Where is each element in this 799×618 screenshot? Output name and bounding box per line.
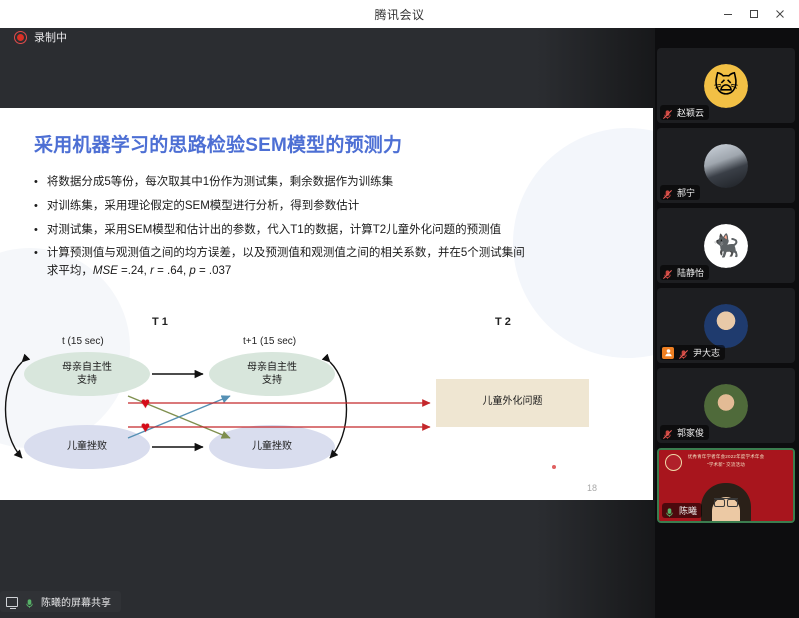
- diagram-sublabel-mid: t+1 (15 sec): [243, 336, 296, 347]
- participant-tile-4[interactable]: 郭家俊: [657, 368, 795, 443]
- bullet-text-line1: 计算预测值与观测值之间的均方误差，以及预测值和观测值之间的相关系数，并在5个测试…: [47, 247, 525, 259]
- participant-name: 郭家俊: [677, 426, 704, 439]
- participant-tile-3[interactable]: 尹大志: [657, 288, 795, 363]
- photo-avatar-icon: [704, 384, 748, 428]
- mic-muted-icon: [662, 267, 673, 278]
- recording-badge[interactable]: 录制中: [10, 26, 75, 48]
- participant-name: 陈曦: [679, 504, 697, 517]
- participant-tile-5[interactable]: 优秀青年学者年会2022年度学术年会 "学术新" 交流活动 陈曦: [657, 448, 795, 523]
- host-badge-icon: [662, 347, 674, 359]
- title-bar: 腾讯会议: [0, 0, 799, 28]
- list-item: • 将数据分成5等份，每次取其中1份作为测试集，剩余数据作为训练集: [34, 174, 624, 192]
- participant-name: 赵颖云: [677, 106, 704, 119]
- nameplate: 郭家俊: [660, 425, 709, 440]
- heart-marker-icon: ♥: [141, 396, 150, 411]
- stat-mse-value: =.24,: [118, 265, 147, 277]
- slide-title: 采用机器学习的思路检验SEM模型的预测力: [34, 130, 402, 157]
- bullet-text: 对训练集，采用理论假定的SEM模型进行分析，得到参数估计: [47, 198, 624, 216]
- bullet-text-line2: 求平均，MSE =.24, r = .64, p = .037: [47, 263, 624, 281]
- bullet-text: 计算预测值与观测值之间的均方误差，以及预测值和观测值之间的相关系数，并在5个测试…: [47, 245, 624, 281]
- stat-mse-label: MSE: [93, 265, 118, 277]
- bullet-dot-icon: •: [34, 222, 38, 239]
- avatar: 🐈‍⬛: [704, 224, 748, 268]
- avatar: [704, 304, 748, 348]
- nameplate: 郝宁: [660, 185, 700, 200]
- window-controls: [715, 0, 793, 28]
- bullet-dot-icon: •: [34, 245, 38, 262]
- mic-on-icon: [24, 596, 35, 607]
- close-icon[interactable]: [767, 0, 793, 28]
- app-title: 腾讯会议: [374, 6, 424, 23]
- screen-share-indicator: 陈曦的屏幕共享: [0, 591, 121, 612]
- participant-tile-0[interactable]: 🙀 赵颖云: [657, 48, 795, 123]
- stat-p-value: = .037: [196, 265, 232, 277]
- bullet-text: 对测试集，采用SEM模型和估计出的参数，代入T1的数据，计算T2儿童外化问题的预…: [47, 222, 624, 240]
- bullet-dot-icon: •: [34, 174, 38, 191]
- mic-muted-icon: [678, 347, 689, 358]
- glasses-icon: [714, 498, 738, 505]
- laser-pointer-dot: [552, 465, 556, 469]
- mic-on-icon: [664, 505, 675, 516]
- bullet-dot-icon: •: [34, 198, 38, 215]
- participant-name: 尹大志: [693, 346, 720, 359]
- node-child-frustration-t1: [209, 425, 335, 469]
- participant-name: 郝宁: [677, 186, 695, 199]
- video-banner-line1: 优秀青年学者年会2022年度学术年会: [659, 454, 793, 461]
- video-banner-line2: "学术新" 交流活动: [659, 462, 793, 469]
- participant-tile-1[interactable]: 郝宁: [657, 128, 795, 203]
- participant-rail: 🙀 赵颖云 郝宁 🐈‍⬛: [657, 48, 797, 528]
- mic-muted-icon: [662, 107, 673, 118]
- screen-share-icon: [6, 597, 18, 607]
- list-item: • 计算预测值与观测值之间的均方误差，以及预测值和观测值之间的相关系数，并在5个…: [34, 245, 624, 281]
- diagram-header-t1: T 1: [152, 316, 168, 328]
- avatar: [704, 384, 748, 428]
- heart-marker-icon: ♥: [141, 420, 150, 435]
- recording-dot-icon: [14, 31, 27, 44]
- sem-path-diagram: T 1 T 2 t (15 sec) t+1 (15 sec) 母亲自主性支持 …: [0, 322, 653, 500]
- mic-muted-icon: [662, 427, 673, 438]
- diagram-header-t2: T 2: [495, 316, 511, 328]
- avatar: [704, 144, 748, 188]
- photo-avatar-icon: 🐈‍⬛: [704, 224, 748, 268]
- list-item: • 对测试集，采用SEM模型和估计出的参数，代入T1的数据，计算T2儿童外化问题…: [34, 222, 624, 240]
- list-item: • 对训练集，采用理论假定的SEM模型进行分析，得到参数估计: [34, 198, 624, 216]
- node-child-externalizing: [436, 379, 589, 427]
- slide-page-number: 18: [587, 483, 597, 493]
- participant-tile-2[interactable]: 🐈‍⬛ 陆静怡: [657, 208, 795, 283]
- node-mother-support-t1: [209, 352, 335, 396]
- node-child-frustration-t: [24, 425, 150, 469]
- participant-name: 陆静怡: [677, 266, 704, 279]
- photo-avatar-icon: [704, 304, 748, 348]
- node-mother-support-t: [24, 352, 150, 396]
- photo-avatar-icon: [704, 144, 748, 188]
- nameplate: 尹大志: [660, 345, 725, 360]
- recording-label: 录制中: [34, 29, 67, 45]
- bullet-text: 将数据分成5等份，每次取其中1份作为测试集，剩余数据作为训练集: [47, 174, 624, 192]
- slide-bullet-list: • 将数据分成5等份，每次取其中1份作为测试集，剩余数据作为训练集 • 对训练集…: [34, 174, 624, 287]
- stat-r-value: = .64,: [154, 265, 186, 277]
- nameplate: 陈曦: [662, 503, 702, 518]
- mic-muted-icon: [662, 187, 673, 198]
- nameplate: 赵颖云: [660, 105, 709, 120]
- shared-slide: 采用机器学习的思路检验SEM模型的预测力 • 将数据分成5等份，每次取其中1份作…: [0, 108, 653, 500]
- diagram-sublabel-left: t (15 sec): [62, 336, 104, 347]
- emoji-avatar-icon: 🙀: [704, 64, 748, 108]
- meeting-window: 腾讯会议 录制中 采用机器学习的思路检验SEM模型的预测力: [0, 0, 799, 618]
- minimize-icon[interactable]: [715, 0, 741, 28]
- screen-share-label: 陈曦的屏幕共享: [41, 594, 111, 609]
- avatar: 🙀: [704, 64, 748, 108]
- maximize-icon[interactable]: [741, 0, 767, 28]
- bullet-text-prefix: 求平均，: [47, 265, 93, 277]
- nameplate: 陆静怡: [660, 265, 709, 280]
